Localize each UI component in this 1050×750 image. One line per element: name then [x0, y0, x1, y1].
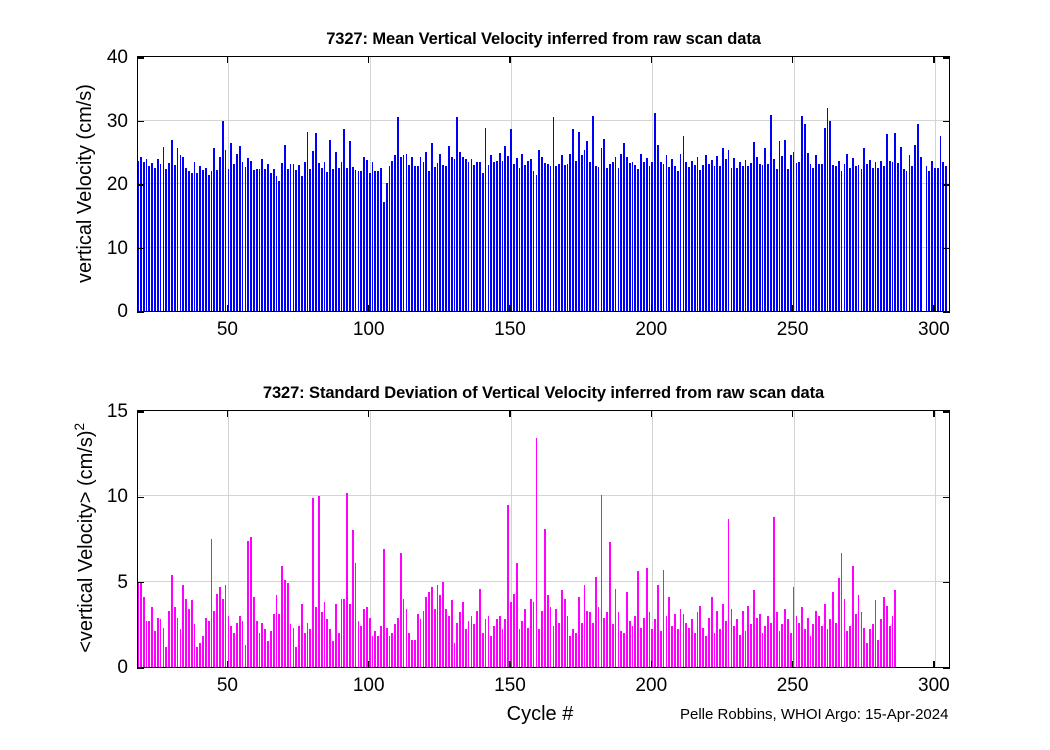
- x-tick-mark: [227, 56, 228, 63]
- x-tick-label: 50: [217, 675, 238, 697]
- y-tick-mark: [137, 121, 144, 122]
- y-tick-mark: [943, 121, 950, 122]
- x-tick-mark: [368, 410, 369, 417]
- x-tick-mark: [227, 661, 228, 668]
- mean-velocity-y-axis-label: vertical Velocity (cm/s): [73, 84, 96, 283]
- x-tick-label: 50: [217, 319, 238, 341]
- y-tick-label: 40: [107, 47, 128, 69]
- x-tick-mark: [651, 305, 652, 312]
- y-tick-label: 30: [107, 111, 128, 133]
- y-tick-mark: [943, 311, 950, 312]
- x-tick-mark: [651, 56, 652, 63]
- y-tick-mark: [943, 248, 950, 249]
- std-velocity-title: 7327: Standard Deviation of Vertical Vel…: [137, 384, 950, 403]
- y-tick-mark: [137, 411, 144, 412]
- y-tick-label: 15: [107, 401, 128, 423]
- y-tick-label: 0: [117, 657, 128, 679]
- y-tick-mark: [137, 582, 144, 583]
- x-tick-mark: [792, 410, 793, 417]
- x-tick-mark: [509, 56, 510, 63]
- x-tick-mark: [792, 305, 793, 312]
- y-tick-mark: [943, 497, 950, 498]
- y-tick-label: 20: [107, 174, 128, 196]
- x-tick-label: 250: [777, 319, 809, 341]
- std-velocity-subplot: 7327: Standard Deviation of Vertical Vel…: [137, 410, 950, 668]
- x-tick-label: 200: [635, 319, 667, 341]
- x-tick-mark: [792, 56, 793, 63]
- x-tick-label: 200: [635, 675, 667, 697]
- y-tick-mark: [137, 311, 144, 312]
- x-tick-mark: [227, 305, 228, 312]
- x-tick-mark: [368, 305, 369, 312]
- y-tick-mark: [137, 497, 144, 498]
- y-tick-label: 5: [117, 572, 128, 594]
- x-tick-mark: [933, 661, 934, 668]
- x-tick-label: 100: [353, 675, 385, 697]
- y-tick-mark: [943, 57, 950, 58]
- x-tick-mark: [509, 661, 510, 668]
- x-tick-mark: [933, 410, 934, 417]
- x-axis-label: Cycle #: [507, 703, 574, 726]
- y-tick-mark: [137, 667, 144, 668]
- x-tick-mark: [509, 410, 510, 417]
- x-tick-label: 100: [353, 319, 385, 341]
- std-velocity-y-axis-label: <vertical Velocity> (cm/s)2: [72, 423, 98, 653]
- x-tick-mark: [651, 661, 652, 668]
- x-tick-label: 300: [918, 319, 950, 341]
- y-tick-mark: [943, 667, 950, 668]
- y-tick-mark: [137, 248, 144, 249]
- x-tick-label: 300: [918, 675, 950, 697]
- x-tick-label: 150: [494, 675, 526, 697]
- mean-velocity-title: 7327: Mean Vertical Velocity inferred fr…: [137, 30, 950, 49]
- y-tick-label: 0: [117, 301, 128, 323]
- std-velocity-y-axis-label-text: <vertical Velocity> (cm/s): [75, 430, 97, 652]
- x-tick-mark: [933, 56, 934, 63]
- y-tick-mark: [943, 411, 950, 412]
- y-tick-mark: [137, 57, 144, 58]
- std-velocity-y-axis-exponent: 2: [72, 423, 87, 431]
- x-tick-label: 150: [494, 319, 526, 341]
- y-tick-mark: [943, 582, 950, 583]
- credit-annotation: Pelle Robbins, WHOI Argo: 15-Apr-2024: [680, 706, 948, 723]
- x-tick-mark: [651, 410, 652, 417]
- y-tick-mark: [943, 184, 950, 185]
- y-tick-label: 10: [107, 486, 128, 508]
- argo-float-figure: 7327: Mean Vertical Velocity inferred fr…: [0, 0, 1050, 750]
- x-tick-mark: [509, 305, 510, 312]
- mean-velocity-subplot: 7327: Mean Vertical Velocity inferred fr…: [137, 56, 950, 312]
- x-tick-mark: [227, 410, 228, 417]
- x-tick-mark: [368, 56, 369, 63]
- x-tick-label: 250: [777, 675, 809, 697]
- x-tick-mark: [368, 661, 369, 668]
- y-tick-label: 10: [107, 238, 128, 260]
- x-tick-mark: [792, 661, 793, 668]
- y-tick-mark: [137, 184, 144, 185]
- x-tick-mark: [933, 305, 934, 312]
- mean-velocity-tick-marks: 01020304050100150200250300: [137, 56, 950, 312]
- std-velocity-tick-marks: 05101550100150200250300: [137, 410, 950, 668]
